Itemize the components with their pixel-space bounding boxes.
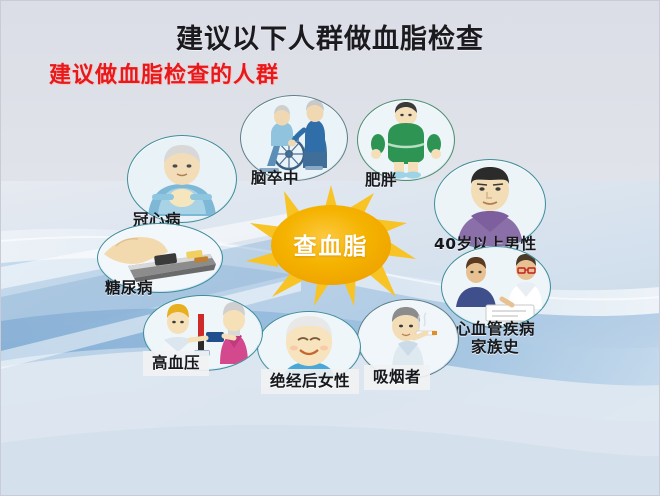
sun-icon [244, 183, 418, 307]
node-label-diabetes: 糖尿病 [105, 279, 153, 297]
wheelchair-patient-icon [241, 96, 347, 180]
elderly-patient-icon [128, 136, 236, 222]
node-label-postmenopausal-women: 绝经后女性 [261, 369, 359, 394]
center-sunburst: 查血脂 [244, 183, 418, 307]
doctor-consultation-icon [442, 247, 550, 327]
node-label-family-history-cvd-line2: 家族史 [455, 338, 535, 356]
page-subtitle: 建议做血脂检查的人群 [49, 57, 279, 89]
node-label-family-history-cvd: 心血管疾病 家族史 [455, 320, 535, 357]
slide-canvas: 建议以下人群做血脂检查 建议做血脂检查的人群 [0, 0, 660, 496]
page-title: 建议以下人群做血脂检查 [1, 17, 659, 56]
node-label-stroke: 脑卒中 [251, 169, 299, 187]
node-label-hypertension: 高血压 [143, 351, 209, 376]
node-label-obesity: 肥胖 [365, 171, 397, 189]
bubble-coronary-heart-disease [127, 135, 237, 223]
node-label-smoker: 吸烟者 [364, 365, 430, 390]
node-label-family-history-cvd-line1: 心血管疾病 [455, 320, 535, 338]
